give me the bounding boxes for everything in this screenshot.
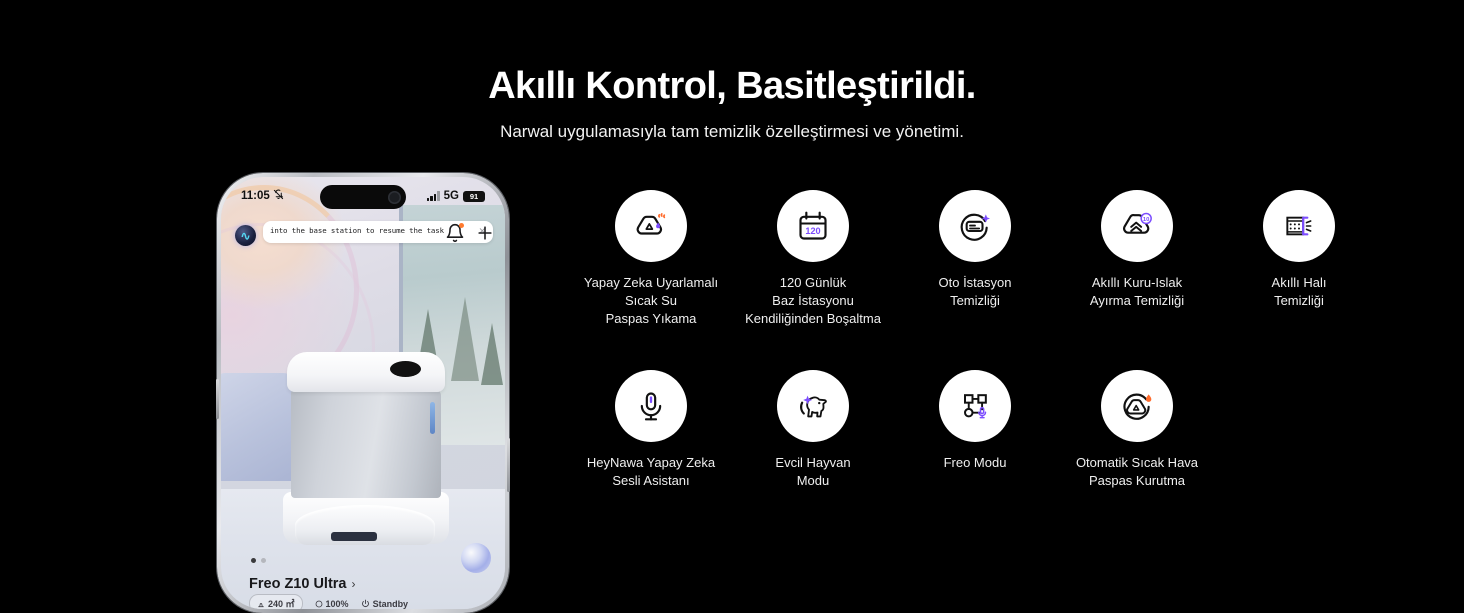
product-image-robot-vacuum [283,352,449,552]
product-lid [287,352,445,392]
hot-water-mop-wash-icon [615,190,687,262]
volume-button[interactable] [216,379,219,419]
feature-calendar-120[interactable]: 120 120 Günlük Baz İstasyonu Kendiliğind… [732,190,894,328]
svg-text:120: 120 [805,226,820,236]
status-time: 11:05 [241,190,270,202]
network-label: 5G [444,190,459,202]
phone-mockup: 11:05 5G 91 [205,170,510,610]
promo-page: { "hero": { "title": "Akıllı Kontrol, Ba… [0,0,1464,600]
feature-hot-water-mop-wash[interactable]: Yapay Zeka Uyarlamalı Sıcak Su Paspas Yı… [570,190,732,328]
feature-label: Yapay Zeka Uyarlamalı Sıcak Su Paspas Yı… [584,274,718,328]
bell-slash-icon [273,189,284,203]
device-name: Freo Z10 Ultra [249,576,347,592]
feature-row-1: Yapay Zeka Uyarlamalı Sıcak Su Paspas Yı… [570,190,1450,328]
feature-voice-assistant[interactable]: HeyNawa Yapay Zeka Sesli Asistanı [570,370,732,490]
status-bar: 11:05 5G 91 [221,177,505,215]
product-indicator-strip [430,402,435,434]
stat-standby-value: Standby [373,599,409,609]
status-bar-right: 5G 91 [427,190,485,202]
page-subtitle: Narwal uygulamasıyla tam temizlik özelle… [0,122,1464,142]
feature-grid: Yapay Zeka Uyarlamalı Sıcak Su Paspas Yı… [570,190,1450,490]
feature-smart-carpet-clean[interactable]: Akıllı Halı Temizliği [1218,190,1380,328]
stat-standby: Standby [361,599,409,609]
front-camera-icon [388,191,401,204]
device-stats: 240 ㎡ 100% Standby [249,594,408,609]
product-opening [390,361,421,377]
hero-header: Akıllı Kontrol, Basitleştirildi. Narwal … [0,66,1464,142]
carousel-dot-active[interactable] [251,558,256,563]
feature-auto-station-clean[interactable]: Oto İstasyon Temizliği [894,190,1056,328]
feature-label: Akıllı Halı Temizliği [1272,274,1327,310]
chevron-right-icon: › [352,577,356,591]
standby-icon [361,599,370,608]
plus-icon [475,223,495,243]
feature-label: Otomatik Sıcak Hava Paspas Kurutma [1076,454,1198,490]
stat-battery: 100% [315,599,349,609]
calendar-120-icon: 120 [777,190,849,262]
signal-bars-icon [427,191,440,201]
narwal-assistant-avatar: ∿ [235,225,256,246]
carousel-dots[interactable] [251,558,266,563]
feature-hot-air-mop-dry[interactable]: Otomatik Sıcak Hava Paspas Kurutma [1056,370,1218,490]
status-bar-left: 11:05 [241,189,284,203]
notification-text: into the base station to resume the task [270,226,473,237]
broom-icon [257,600,265,608]
pet-mode-dog-icon [777,370,849,442]
phone-frame: 11:05 5G 91 [217,173,509,613]
svg-text:10: 10 [1143,217,1149,223]
carousel-dot[interactable] [261,558,266,563]
app-top-actions [445,223,495,243]
feature-row-2: HeyNawa Yapay Zeka Sesli Asistanı Evcil … [570,370,1450,490]
feature-dry-wet-separation[interactable]: 10 Akıllı Kuru-Islak Ayırma Temizliği [1056,190,1218,328]
stat-area: 240 ㎡ [249,594,303,609]
add-button[interactable] [475,223,495,243]
dry-wet-separation-icon: 10 [1101,190,1173,262]
feature-pet-mode[interactable]: Evcil Hayvan Modu [732,370,894,490]
notification-dot [459,223,464,228]
decorative-orb [461,543,491,573]
stat-battery-value: 100% [326,599,349,609]
feature-freo-mode[interactable]: Freo Modu [894,370,1056,490]
smart-carpet-clean-icon [1263,190,1335,262]
feature-label: Freo Modu [944,454,1007,472]
dynamic-island [320,185,406,209]
device-name-row[interactable]: Freo Z10 Ultra › [249,576,356,592]
notifications-button[interactable] [445,223,465,243]
product-body [291,388,441,498]
stat-area-value: 240 ㎡ [268,597,295,609]
feature-label: HeyNawa Yapay Zeka Sesli Asistanı [587,454,715,490]
hot-air-mop-dry-icon [1101,370,1173,442]
freo-mode-nodes-icon [939,370,1011,442]
feature-label: 120 Günlük Baz İstasyonu Kendiliğinden B… [745,274,881,328]
microphone-icon [615,370,687,442]
page-title: Akıllı Kontrol, Basitleştirildi. [0,66,1464,108]
auto-station-clean-icon [939,190,1011,262]
feature-label: Evcil Hayvan Modu [775,454,850,490]
product-dock-contacts [331,532,377,541]
battery-indicator: 91 [463,191,485,202]
feature-label: Oto İstasyon Temizliği [939,274,1012,310]
battery-icon [315,600,323,608]
power-button[interactable] [507,438,510,492]
feature-label: Akıllı Kuru-Islak Ayırma Temizliği [1090,274,1184,310]
phone-screen: 11:05 5G 91 [221,177,505,609]
